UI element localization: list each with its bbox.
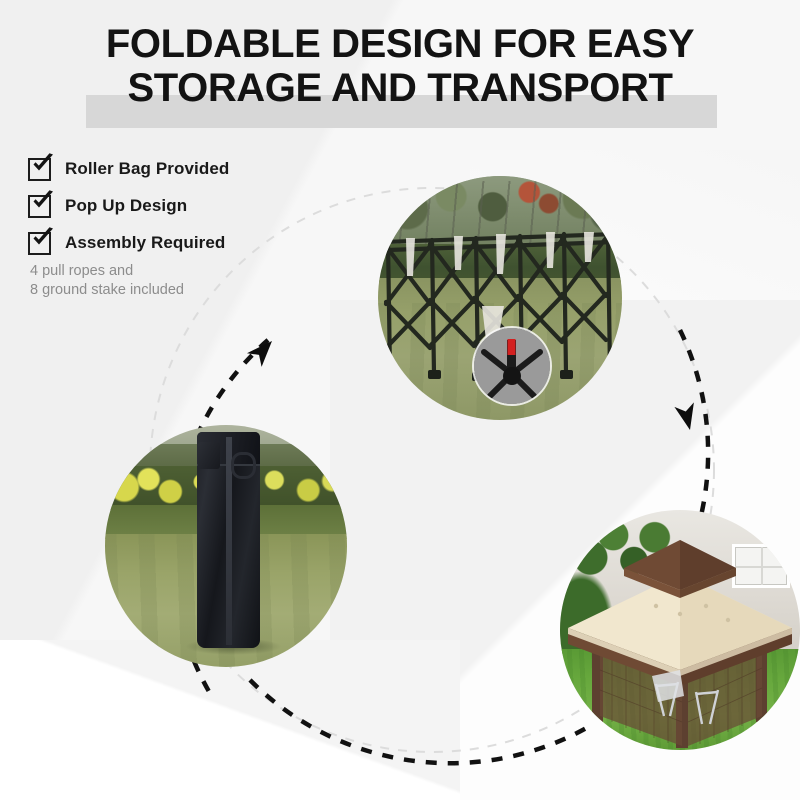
checklist-item-label: Roller Bag Provided <box>65 159 229 179</box>
hub-joint-icon <box>474 328 550 404</box>
checklist-item-label: Assembly Required <box>65 233 225 253</box>
infographic-canvas: FOLDABLE DESIGN FOR EASY STORAGE AND TRA… <box>0 0 800 800</box>
photo-folded-frame <box>378 176 622 420</box>
hub-joint-inset <box>474 328 550 404</box>
roller-bag-side-pocket <box>198 442 220 469</box>
page-title-line-1: FOLDABLE DESIGN FOR EASY <box>0 22 800 66</box>
accessories-note: 4 pull ropes and 8 ground stake included <box>30 262 184 300</box>
checklist-item-label: Pop Up Design <box>65 196 187 216</box>
page-title-line-2: STORAGE AND TRANSPORT <box>0 66 800 110</box>
accessories-note-line-2: 8 ground stake included <box>30 281 184 300</box>
checklist-item-pop-up: Pop Up Design <box>28 189 328 223</box>
accessories-note-line-1: 4 pull ropes and <box>30 262 184 281</box>
check-mark-icon <box>28 158 51 181</box>
check-mark-icon <box>28 195 51 218</box>
page-title: FOLDABLE DESIGN FOR EASY STORAGE AND TRA… <box>0 22 800 110</box>
checklist-item-assembly: Assembly Required <box>28 226 328 260</box>
check-mark-icon <box>28 232 51 255</box>
checklist-item-roller-bag: Roller Bag Provided <box>28 152 328 186</box>
roller-bag-handle <box>231 452 256 480</box>
feature-checklist: Roller Bag Provided Pop Up Design Assemb… <box>28 152 328 263</box>
photo-roller-bag <box>105 425 347 667</box>
photo-assembled-gazebo <box>560 510 800 750</box>
gazebo-structure <box>560 510 800 750</box>
